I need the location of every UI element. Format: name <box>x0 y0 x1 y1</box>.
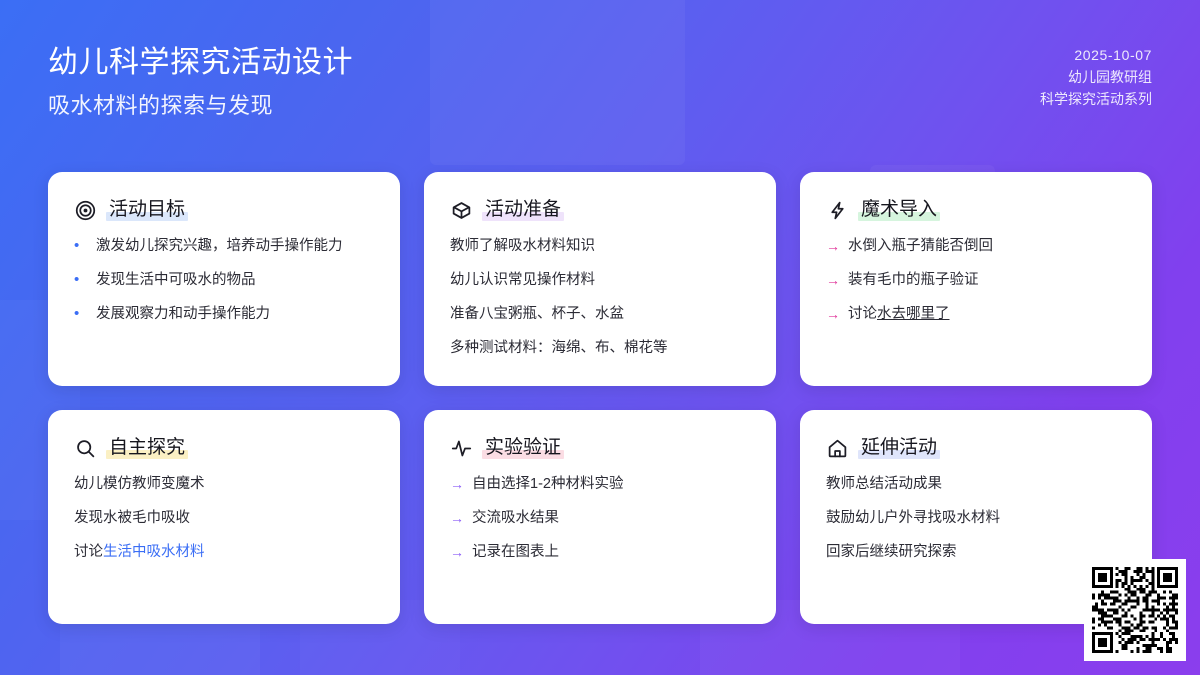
target-icon <box>74 199 96 221</box>
card-experiment-verify: 实验验证→自由选择1-2种材料实验→交流吸水结果→记录在图表上 <box>424 410 776 624</box>
list-item-label: 幼儿认识常见操作材料 <box>450 272 595 288</box>
list-item-text: 发现水被毛巾吸收 <box>74 508 374 528</box>
meta-date: 2025-10-07 <box>1040 44 1152 66</box>
list-item-label: 教师总结活动成果 <box>826 476 942 492</box>
list-item: 幼儿模仿教师变魔术 <box>74 474 374 494</box>
list-item-label: 准备八宝粥瓶、杯子、水盆 <box>450 306 624 322</box>
list-item-text: 准备八宝粥瓶、杯子、水盆 <box>450 304 750 324</box>
list-item-text: 激发幼儿探究兴趣，培养动手操作能力 <box>96 236 374 256</box>
list-item-text: 讨论水去哪里了 <box>848 304 1126 324</box>
list-item-label: 讨论 <box>848 306 877 322</box>
list-item: 鼓励幼儿户外寻找吸水材料 <box>826 508 1126 528</box>
title-block: 幼儿科学探究活动设计 吸水材料的探索与发现 <box>48 44 353 122</box>
list-item: •激发幼儿探究兴趣，培养动手操作能力 <box>74 236 374 256</box>
list-item-text: 回家后继续研究探索 <box>826 542 1126 562</box>
arrow-marker-icon: → <box>450 542 463 562</box>
page-title: 幼儿科学探究活动设计 <box>48 44 353 82</box>
list-item: →交流吸水结果 <box>450 508 750 528</box>
card-header: 活动目标 <box>74 198 374 222</box>
card-activity-goal: 活动目标•激发幼儿探究兴趣，培养动手操作能力•发现生活中可吸水的物品•发展观察力… <box>48 172 400 386</box>
list-item-label: 讨论 <box>74 544 103 560</box>
list-item: 发现水被毛巾吸收 <box>74 508 374 528</box>
list-item: →装有毛巾的瓶子验证 <box>826 270 1126 290</box>
list-item-text: 装有毛巾的瓶子验证 <box>848 270 1126 290</box>
card-grid: 活动目标•激发幼儿探究兴趣，培养动手操作能力•发现生活中可吸水的物品•发展观察力… <box>48 172 1152 624</box>
card-header: 活动准备 <box>450 198 750 222</box>
card-body: 教师了解吸水材料知识幼儿认识常见操作材料准备八宝粥瓶、杯子、水盆多种测试材料：海… <box>450 236 750 358</box>
list-item-text: 自由选择1-2种材料实验 <box>472 474 750 494</box>
card-header: 延伸活动 <box>826 436 1126 460</box>
list-item-text: 鼓励幼儿户外寻找吸水材料 <box>826 508 1126 528</box>
bullet-marker-icon: • <box>74 304 87 324</box>
list-item: 准备八宝粥瓶、杯子、水盆 <box>450 304 750 324</box>
list-item-label: 自由选择1-2种材料实验 <box>472 476 623 492</box>
list-item-label: 鼓励幼儿户外寻找吸水材料 <box>826 510 1000 526</box>
list-item-text: 教师总结活动成果 <box>826 474 1126 494</box>
card-body: 教师总结活动成果鼓励幼儿户外寻找吸水材料回家后继续研究探索 <box>826 474 1126 562</box>
list-item-label: 回家后继续研究探索 <box>826 544 957 560</box>
card-body: 幼儿模仿教师变魔术发现水被毛巾吸收讨论生活中吸水材料 <box>74 474 374 562</box>
list-item-label: 多种测试材料：海绵、布、棉花等 <box>450 340 668 356</box>
slide-root: 幼儿科学探究活动设计 吸水材料的探索与发现 2025-10-07 幼儿园教研组 … <box>0 0 1200 675</box>
card-magic-intro: 魔术导入→水倒入瓶子猜能否倒回→装有毛巾的瓶子验证→讨论水去哪里了 <box>800 172 1152 386</box>
list-item-text: 多种测试材料：海绵、布、棉花等 <box>450 338 750 358</box>
slide-header: 幼儿科学探究活动设计 吸水材料的探索与发现 2025-10-07 幼儿园教研组 … <box>0 0 1200 152</box>
list-item-text: 记录在图表上 <box>472 542 750 562</box>
home-icon <box>826 437 848 459</box>
list-item-label: 水倒入瓶子猜能否倒回 <box>848 238 993 254</box>
list-item-text: 交流吸水结果 <box>472 508 750 528</box>
list-item-text: 讨论生活中吸水材料 <box>74 542 374 562</box>
card-self-exploration: 自主探究幼儿模仿教师变魔术发现水被毛巾吸收讨论生活中吸水材料 <box>48 410 400 624</box>
list-item: 多种测试材料：海绵、布、棉花等 <box>450 338 750 358</box>
search-icon <box>74 437 96 459</box>
card-header: 实验验证 <box>450 436 750 460</box>
card-body: →水倒入瓶子猜能否倒回→装有毛巾的瓶子验证→讨论水去哪里了 <box>826 236 1126 324</box>
list-item-label: 交流吸水结果 <box>472 510 559 526</box>
bullet-marker-icon: • <box>74 236 87 256</box>
list-item-label: 发现水被毛巾吸收 <box>74 510 190 526</box>
list-item-text: 发展观察力和动手操作能力 <box>96 304 374 324</box>
card-title: 魔术导入 <box>858 198 940 222</box>
inline-highlight-link[interactable]: 生活中吸水材料 <box>103 544 205 560</box>
list-item-label: 发展观察力和动手操作能力 <box>96 306 270 322</box>
card-body: →自由选择1-2种材料实验→交流吸水结果→记录在图表上 <box>450 474 750 562</box>
card-title: 自主探究 <box>106 436 188 460</box>
meta-org: 幼儿园教研组 <box>1040 66 1152 88</box>
card-header: 自主探究 <box>74 436 374 460</box>
arrow-marker-icon: → <box>450 474 463 494</box>
qr-code[interactable] <box>1084 559 1186 661</box>
package-icon <box>450 199 472 221</box>
card-body: •激发幼儿探究兴趣，培养动手操作能力•发现生活中可吸水的物品•发展观察力和动手操… <box>74 236 374 324</box>
list-item-text: 水倒入瓶子猜能否倒回 <box>848 236 1126 256</box>
list-item: •发展观察力和动手操作能力 <box>74 304 374 324</box>
card-header: 魔术导入 <box>826 198 1126 222</box>
qr-code-image <box>1092 567 1178 653</box>
list-item: 教师总结活动成果 <box>826 474 1126 494</box>
lightning-icon <box>826 199 848 221</box>
list-item: →记录在图表上 <box>450 542 750 562</box>
list-item-text: 幼儿认识常见操作材料 <box>450 270 750 290</box>
list-item: •发现生活中可吸水的物品 <box>74 270 374 290</box>
list-item: 回家后继续研究探索 <box>826 542 1126 562</box>
arrow-marker-icon: → <box>826 304 839 324</box>
list-item-text: 幼儿模仿教师变魔术 <box>74 474 374 494</box>
list-item: →讨论水去哪里了 <box>826 304 1126 324</box>
bullet-marker-icon: • <box>74 270 87 290</box>
list-item: 幼儿认识常见操作材料 <box>450 270 750 290</box>
list-item-label: 教师了解吸水材料知识 <box>450 238 595 254</box>
list-item-label: 发现生活中可吸水的物品 <box>96 272 256 288</box>
list-item: 讨论生活中吸水材料 <box>74 542 374 562</box>
card-title: 延伸活动 <box>858 436 940 460</box>
card-activity-prep: 活动准备教师了解吸水材料知识幼儿认识常见操作材料准备八宝粥瓶、杯子、水盆多种测试… <box>424 172 776 386</box>
page-subtitle: 吸水材料的探索与发现 <box>48 90 353 122</box>
activity-pulse-icon <box>450 437 472 459</box>
list-item: →自由选择1-2种材料实验 <box>450 474 750 494</box>
list-item-text: 发现生活中可吸水的物品 <box>96 270 374 290</box>
arrow-marker-icon: → <box>450 508 463 528</box>
list-item-label: 幼儿模仿教师变魔术 <box>74 476 205 492</box>
header-meta: 2025-10-07 幼儿园教研组 科学探究活动系列 <box>1040 44 1152 110</box>
card-title: 活动目标 <box>106 198 188 222</box>
card-title: 实验验证 <box>482 436 564 460</box>
list-item-text: 教师了解吸水材料知识 <box>450 236 750 256</box>
list-item-label: 记录在图表上 <box>472 544 559 560</box>
list-item-label: 装有毛巾的瓶子验证 <box>848 272 979 288</box>
list-item-label: 激发幼儿探究兴趣，培养动手操作能力 <box>96 238 343 254</box>
arrow-marker-icon: → <box>826 270 839 290</box>
list-item: →水倒入瓶子猜能否倒回 <box>826 236 1126 256</box>
meta-series: 科学探究活动系列 <box>1040 88 1152 110</box>
inline-highlight-link[interactable]: 水去哪里了 <box>877 306 950 322</box>
card-title: 活动准备 <box>482 198 564 222</box>
arrow-marker-icon: → <box>826 236 839 256</box>
list-item: 教师了解吸水材料知识 <box>450 236 750 256</box>
